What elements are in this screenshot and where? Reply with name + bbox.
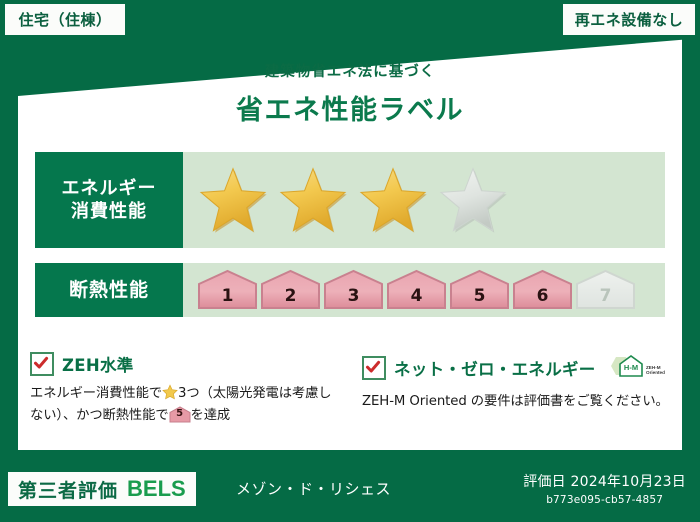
svg-text:H-M: H-M xyxy=(624,363,638,372)
insulation-chip-value: 5 xyxy=(169,406,191,422)
bels-en-label: BELS xyxy=(127,476,186,502)
tag-renewable-equipment: 再エネ設備なし xyxy=(563,4,695,35)
note-nze-title: ネット・ゼロ・エネルギー xyxy=(394,356,596,380)
energy-performance-label: エネルギー 消費性能 xyxy=(35,152,183,248)
insulation-level-filled: 3 xyxy=(323,269,384,310)
insulation-level-value: 3 xyxy=(323,286,384,306)
insulation-level-filled: 2 xyxy=(260,269,321,310)
insulation-performance-row: 断熱性能 1234567 xyxy=(35,263,665,317)
svg-text:Oriented: Oriented xyxy=(646,370,665,375)
energy-label-card: 住宅（住棟） 再エネ設備なし 建築物省エネ法に基づく 省エネ性能ラベル エネルギ… xyxy=(0,0,700,522)
evaluation-id: b773e095-cb57-4857 xyxy=(523,494,686,506)
insulation-level-scale: 1234567 xyxy=(197,269,636,311)
zeh-m-oriented-logo-icon: H-M ZEH-M Oriented xyxy=(608,352,670,384)
note-zeh-title: ZEH水準 xyxy=(62,352,134,376)
insulation-level-filled: 4 xyxy=(386,269,447,310)
building-name: メゾン・ド・リシェス xyxy=(236,478,391,499)
insulation-level-value: 7 xyxy=(575,286,636,306)
insulation-level-filled: 6 xyxy=(512,269,573,310)
star-filled-icon xyxy=(197,166,269,234)
note-zeh-header: ZEH水準 xyxy=(30,352,338,376)
insulation-level-filled: 1 xyxy=(197,269,258,310)
energy-performance-row: エネルギー 消費性能 xyxy=(35,152,665,248)
star-rating xyxy=(197,166,509,234)
insulation-level-empty: 7 xyxy=(575,269,636,310)
title-block: 建築物省エネ法に基づく 省エネ性能ラベル xyxy=(0,60,700,127)
insulation-chip-icon: 5 xyxy=(169,406,191,423)
note-zeh-standard: ZEH水準 エネルギー消費性能で3つ（太陽光発電は考慮しない）、かつ断熱性能で5… xyxy=(30,352,338,426)
insulation-level-value: 5 xyxy=(449,286,510,306)
note-zeh-text-3: を達成 xyxy=(191,408,231,423)
insulation-level-value: 4 xyxy=(386,286,447,306)
insulation-level-filled: 5 xyxy=(449,269,510,310)
energy-label-line1: エネルギー xyxy=(62,177,157,200)
star-filled-icon xyxy=(357,166,429,234)
note-net-zero-energy: ネット・ゼロ・エネルギー H-M ZEH-M Oriented ZEH-M Or… xyxy=(362,352,670,426)
star-empty-icon xyxy=(437,166,509,234)
insulation-performance-value: 1234567 xyxy=(183,263,665,317)
evaluation-meta: 評価日 2024年10月23日 b773e095-cb57-4857 xyxy=(523,471,686,506)
title-subtitle: 建築物省エネ法に基づく xyxy=(0,60,700,81)
bels-jp-label: 第三者評価 xyxy=(18,476,118,503)
insulation-level-value: 2 xyxy=(260,286,321,306)
insulation-level-value: 6 xyxy=(512,286,573,306)
bels-badge: 第三者評価 BELS xyxy=(8,472,196,506)
note-nze-header: ネット・ゼロ・エネルギー H-M ZEH-M Oriented xyxy=(362,352,670,384)
insulation-performance-label: 断熱性能 xyxy=(35,263,183,317)
page-title: 省エネ性能ラベル xyxy=(0,88,700,127)
footer-bar: 第三者評価 BELS メゾン・ド・リシェス 評価日 2024年10月23日 b7… xyxy=(0,465,700,522)
star-filled-icon xyxy=(277,166,349,234)
note-zeh-text-1: エネルギー消費性能で xyxy=(30,386,162,401)
note-zeh-body: エネルギー消費性能で3つ（太陽光発電は考慮しない）、かつ断熱性能で5を達成 xyxy=(30,383,338,426)
evaluation-date: 評価日 2024年10月23日 xyxy=(523,471,686,491)
checkbox-checked-icon[interactable] xyxy=(362,356,386,380)
note-nze-body: ZEH-M Oriented の要件は評価書をご覧ください。 xyxy=(362,391,670,413)
star-icon xyxy=(162,384,178,400)
checkbox-checked-icon[interactable] xyxy=(30,352,54,376)
energy-performance-value xyxy=(183,152,665,248)
energy-label-line2: 消費性能 xyxy=(71,200,147,223)
notes-section: ZEH水準 エネルギー消費性能で3つ（太陽光発電は考慮しない）、かつ断熱性能で5… xyxy=(30,352,670,426)
tag-building-type: 住宅（住棟） xyxy=(5,4,125,35)
insulation-level-value: 1 xyxy=(197,286,258,306)
